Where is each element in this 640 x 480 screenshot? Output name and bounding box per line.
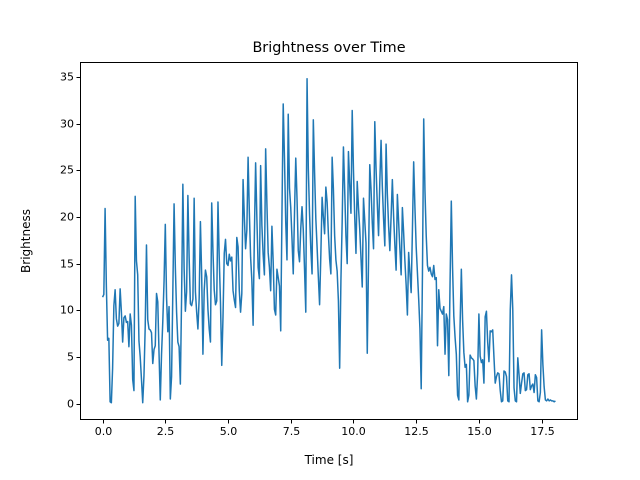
x-axis-label: Time [s] <box>304 453 354 467</box>
x-tick-label: 12.5 <box>404 425 429 438</box>
y-tick-label: 15 <box>60 258 74 271</box>
x-tick-label: 10.0 <box>341 425 366 438</box>
x-tick-label: 5.0 <box>220 425 238 438</box>
y-tick-label: 5 <box>67 351 74 364</box>
x-tick-label: 0.0 <box>95 425 113 438</box>
chart-canvas: 0.02.55.07.510.012.515.017.5 05101520253… <box>0 0 640 480</box>
x-tick-label: 15.0 <box>467 425 492 438</box>
y-tick-label: 35 <box>60 71 74 84</box>
y-tick-label: 0 <box>67 398 74 411</box>
matplotlib-figure: 0.02.55.07.510.012.515.017.5 05101520253… <box>0 0 640 480</box>
y-tick-label: 10 <box>60 304 74 317</box>
y-tick-label: 20 <box>60 211 74 224</box>
y-tick-label: 25 <box>60 164 74 177</box>
y-axis-label: Brightness <box>19 209 33 273</box>
chart-title: Brightness over Time <box>252 40 405 56</box>
y-tick-label: 30 <box>60 118 74 131</box>
x-tick-label: 2.5 <box>157 425 175 438</box>
x-tick-label: 17.5 <box>530 425 555 438</box>
x-tick-label: 7.5 <box>283 425 301 438</box>
